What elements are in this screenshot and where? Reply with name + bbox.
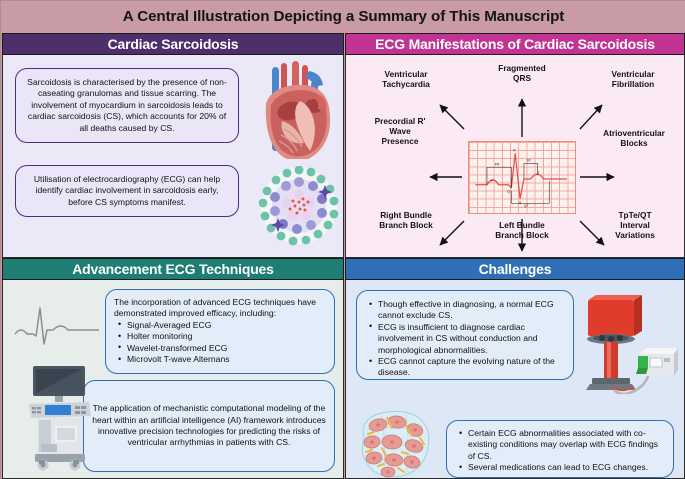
ecg-trace-illustration (13, 302, 101, 348)
ecg-waveform-trace: PR ST QT P R Q S T (469, 142, 575, 213)
panel-body-challenges: Though effective in diagnosing, a normal… (345, 280, 685, 479)
panel-header-label: Advancement ECG Techniques (72, 261, 273, 277)
granuloma-cells-illustration (259, 166, 339, 246)
list-item: ECG cannot capture the evolving nature o… (378, 356, 565, 379)
callout-advanced-ecg-techniques: The incorporation of advanced ECG techni… (105, 289, 335, 374)
svg-text:PR: PR (495, 162, 500, 166)
figure-title: A Central Illustration Depicting a Summa… (123, 8, 564, 25)
svg-text:QT: QT (524, 204, 529, 208)
panel-header-advancement-ecg-techniques: Advancement ECG Techniques (2, 258, 344, 280)
svg-text:R: R (513, 149, 516, 153)
myocardial-tissue-illustration (352, 408, 436, 479)
panel-header-cardiac-sarcoidosis: Cardiac Sarcoidosis (2, 33, 344, 55)
list-item: Certain ECG abnormalities associated wit… (468, 428, 665, 462)
callout-text: Sarcoidosis is characterised by the pres… (24, 77, 230, 134)
ecg-waveform-grid: PR ST QT P R Q S T (468, 141, 576, 214)
callout-ecg-early-identification: Utilisation of electrocardiography (ECG)… (15, 165, 239, 217)
challenges-list-2: Certain ECG abnormalities associated wit… (455, 428, 665, 474)
callout-ecg-limitations: Though effective in diagnosing, a normal… (356, 290, 574, 380)
list-item: Holter monitoring (127, 331, 326, 342)
panel-body-cardiac-sarcoidosis: Sarcoidosis is characterised by the pres… (2, 55, 344, 258)
panel-advancement-ecg-techniques: Advancement ECG Techniques The incorpora… (2, 258, 344, 479)
advanced-techniques-list: Signal-Averaged ECG Holter monitoring Wa… (114, 320, 326, 366)
panel-challenges: Challenges Though effective in diagnosin… (345, 258, 685, 479)
ecg-machine-cart-illustration (19, 364, 99, 472)
callout-sarcoidosis-definition: Sarcoidosis is characterised by the pres… (15, 68, 239, 143)
svg-text:T: T (538, 171, 540, 175)
panel-ecg-manifestations: ECG Manifestations of Cardiac Sarcoidosi… (345, 33, 685, 258)
panel-cardiac-sarcoidosis: Cardiac Sarcoidosis Sarcoidosis is chara… (2, 33, 344, 258)
panel-header-label: ECG Manifestations of Cardiac Sarcoidosi… (375, 36, 655, 52)
panel-header-ecg-manifestations: ECG Manifestations of Cardiac Sarcoidosi… (345, 33, 685, 55)
panel-header-label: Cardiac Sarcoidosis (108, 36, 239, 52)
callout-text: The application of mechanistic computati… (92, 403, 326, 449)
panel-body-ecg-manifestations: Ventricular Tachycardia Fragmented QRS V… (345, 55, 685, 258)
central-illustration-figure: A Central Illustration Depicting a Summa… (0, 0, 685, 479)
lab-instrument-illustration (574, 294, 680, 394)
callout-ai-computational-modeling: The application of mechanistic computati… (83, 380, 335, 472)
list-item: Several medications can lead to ECG chan… (468, 462, 665, 473)
list-item: Signal-Averaged ECG (127, 320, 326, 331)
challenges-list-1: Though effective in diagnosing, a normal… (365, 299, 565, 379)
panel-body-advancement-ecg-techniques: The incorporation of advanced ECG techni… (2, 280, 344, 479)
list-item: ECG is insufficient to diagnose cardiac … (378, 322, 565, 356)
panel-header-challenges: Challenges (345, 258, 685, 280)
svg-text:ST: ST (527, 158, 531, 162)
panel-header-label: Challenges (479, 261, 552, 277)
svg-text:Q: Q (507, 190, 510, 194)
list-item: Microvolt T-wave Alternans (127, 354, 326, 365)
callout-text: Utilisation of electrocardiography (ECG)… (24, 174, 230, 208)
heart-anatomy-illustration (254, 59, 340, 159)
callout-intro-text: The incorporation of advanced ECG techni… (114, 297, 326, 320)
list-item: Though effective in diagnosing, a normal… (378, 299, 565, 322)
callout-ecg-overlap-medications: Certain ECG abnormalities associated wit… (446, 420, 674, 478)
list-item: Wavelet-transformed ECG (127, 343, 326, 354)
figure-title-bar: A Central Illustration Depicting a Summa… (1, 1, 685, 32)
